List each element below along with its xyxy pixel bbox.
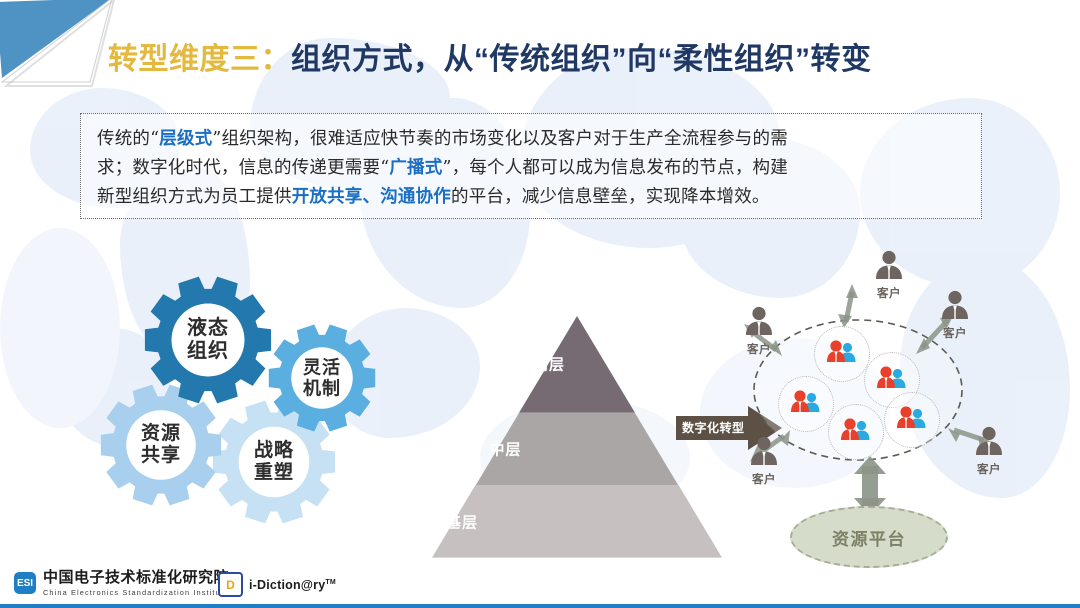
idictionary-logo: D i-Diction@ryTM	[218, 572, 336, 597]
customer-node-5[interactable]: 客户	[741, 436, 787, 487]
resource-platform-label: 资源平台	[832, 525, 906, 550]
customer-icon	[966, 426, 1012, 461]
cesi-mark-icon: ESI	[14, 572, 36, 594]
idictionary-name: i-Diction@ryTM	[249, 578, 336, 592]
customer-icon	[932, 290, 978, 325]
summary-text: ”，每个人都可以成为信息发布的节点，构建	[442, 158, 787, 178]
customer-label: 客户	[741, 471, 787, 487]
summary-line: 新型组织方式为员工提供开放共享、沟通协作的平台，减少信息壁垒，实现降本增效。	[97, 183, 965, 212]
pyramid-band-1[interactable]: 高层	[432, 316, 722, 413]
team-node-3[interactable]	[778, 376, 834, 432]
page-title: 转型维度三：组织方式，从“传统组织”向“柔性组织”转变	[108, 34, 872, 78]
idictionary-tm: TM	[325, 578, 336, 585]
customer-node-2[interactable]: 客户	[932, 290, 978, 341]
customer-node-1[interactable]: 客户	[866, 250, 912, 301]
summary-highlight: 开放共享、沟通协作	[292, 187, 451, 207]
cesi-name-en: China Electronics Standardization Instit…	[43, 588, 229, 597]
customer-icon	[866, 250, 912, 285]
idictionary-name-text: i-Diction@ry	[249, 578, 325, 592]
summary-text: ”组织架构，很难适应快节奏的市场变化以及客户对于生产全流程参与的需	[212, 129, 788, 149]
summary-text: 新型组织方式为员工提供	[97, 187, 292, 207]
bottom-accent-bar	[0, 604, 1080, 608]
gear-1[interactable]: 液态组织	[144, 276, 272, 404]
footer: ESI 中国电子技术标准化研究院 China Electronics Stand…	[0, 564, 1080, 608]
title-prefix: 转型维度三：	[108, 43, 291, 76]
summary-line: 求；数字化时代，信息的传递更需要“广播式”，每个人都可以成为信息发布的节点，构建	[97, 154, 965, 183]
pyramid-band-3[interactable]: 基层	[432, 485, 722, 558]
team-people-icon	[789, 391, 823, 418]
customer-node-4[interactable]: 客户	[736, 306, 782, 357]
title-rest: 组织方式，从“传统组织”向“柔性组织”转变	[291, 43, 872, 76]
gear-cluster: 液态组织灵活机制资源共享战略重塑	[100, 262, 430, 562]
network-diagram: 客户客户客户客户客户 资源平台	[736, 244, 1080, 578]
customer-node-3[interactable]: 客户	[966, 426, 1012, 477]
pyramid-band-label: 基层	[446, 511, 478, 532]
summary-highlight: 层级式	[159, 129, 212, 149]
customer-label: 客户	[966, 461, 1012, 477]
team-people-icon	[875, 367, 909, 394]
team-node-4[interactable]	[828, 404, 884, 460]
team-node-5[interactable]	[884, 392, 940, 448]
summary-text: 传统的“	[97, 129, 159, 149]
cesi-name-cn: 中国电子技术标准化研究院	[43, 570, 229, 586]
summary-textbox: 传统的“层级式”组织架构，很难适应快节奏的市场变化以及客户对于生产全流程参与的需…	[80, 113, 982, 219]
pyramid-band-label: 中层	[490, 439, 522, 460]
cesi-logo: ESI 中国电子技术标准化研究院 China Electronics Stand…	[14, 570, 229, 597]
team-people-icon	[895, 407, 929, 434]
gear-2[interactable]: 灵活机制	[268, 324, 376, 432]
customer-icon	[736, 306, 782, 341]
slide-root: 转型维度三：组织方式，从“传统组织”向“柔性组织”转变 传统的“层级式”组织架构…	[0, 0, 1080, 608]
resource-platform: 资源平台	[790, 506, 948, 568]
team-people-icon	[839, 419, 873, 446]
customer-label: 客户	[932, 325, 978, 341]
customer-label: 客户	[736, 341, 782, 357]
customer-icon	[741, 436, 787, 471]
customer-label: 客户	[866, 285, 912, 301]
team-people-icon	[825, 341, 859, 368]
summary-line: 传统的“层级式”组织架构，很难适应快节奏的市场变化以及客户对于生产全流程参与的需	[97, 125, 965, 154]
summary-text: 求；数字化时代，信息的传递更需要“	[97, 158, 389, 178]
idictionary-mark-icon: D	[218, 572, 243, 597]
summary-highlight: 广播式	[389, 158, 442, 178]
team-node-1[interactable]	[814, 326, 870, 382]
summary-text: 的平台，减少信息壁垒，实现降本增效。	[451, 187, 770, 207]
pyramid-band-label: 高层	[533, 354, 565, 375]
